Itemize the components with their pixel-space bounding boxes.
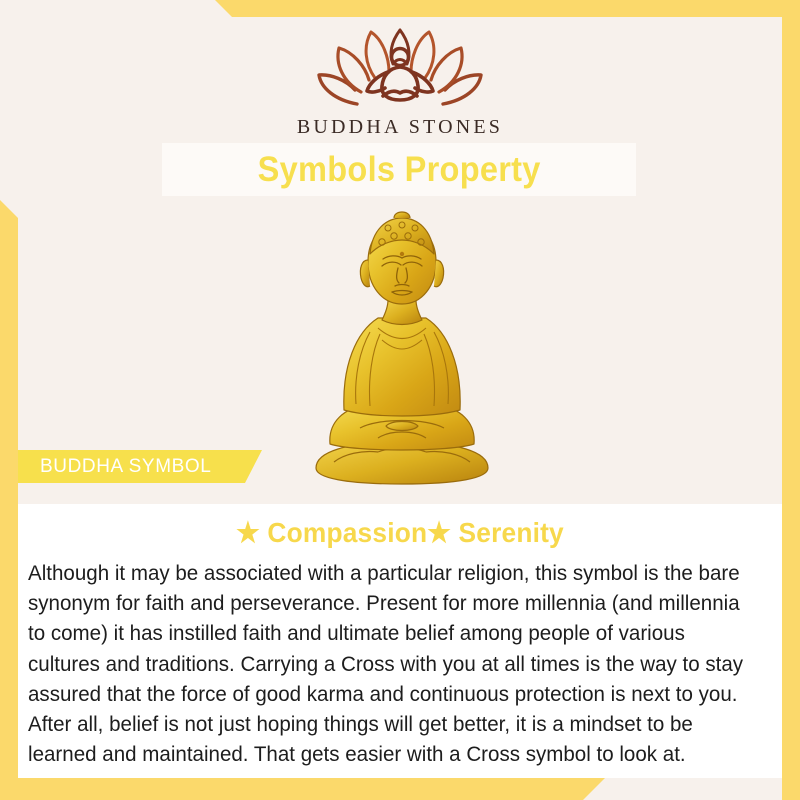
decor-strip-bottom xyxy=(0,778,605,800)
poster-canvas: BUDDHA STONES Symbols Property xyxy=(0,0,800,800)
brand-logo: BUDDHA STONES xyxy=(0,20,800,139)
description-paragraph: Although it may be associated with a par… xyxy=(28,558,747,769)
page-title: Symbols Property xyxy=(257,150,540,190)
lotus-meditation-icon xyxy=(305,20,495,112)
seated-buddha-statue-icon xyxy=(282,200,522,490)
decor-strip-top xyxy=(215,0,800,17)
keywords-heading: ★ Compassion★ Serenity xyxy=(41,516,759,549)
brand-name: BUDDHA STONES xyxy=(0,116,800,139)
buddha-symbol-tag: BUDDHA SYMBOL xyxy=(18,450,262,483)
buddha-symbol-tag-label: BUDDHA SYMBOL xyxy=(40,456,211,478)
buddha-statue-image xyxy=(282,200,522,490)
title-banner: Symbols Property xyxy=(162,143,636,196)
content-panel: ★ Compassion★ Serenity Although it may b… xyxy=(18,504,782,778)
decor-strip-left xyxy=(0,200,18,800)
